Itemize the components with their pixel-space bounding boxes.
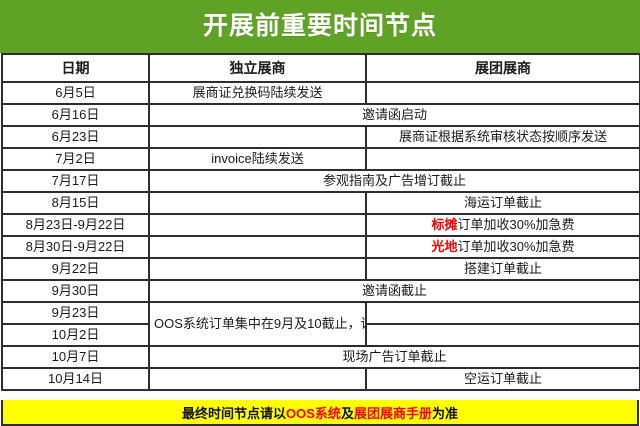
cell-solo xyxy=(149,258,366,280)
table-row: 8月30日-9月22日光地订单加收30%加急费 xyxy=(2,236,640,258)
cell-group xyxy=(366,148,640,170)
table-row: 6月5日展商证兑换码陆续发送 xyxy=(2,82,640,104)
cell-date: 8月30日-9月22日 xyxy=(2,236,149,258)
cell-solo: 展商证兑换码陆续发送 xyxy=(149,82,366,104)
table-header-row: 日期 独立展商 展团展商 xyxy=(2,54,640,82)
cell-solo xyxy=(149,192,366,214)
footer-highlight-oos: OOS系统 xyxy=(286,403,341,422)
cell-group: 搭建订单截止 xyxy=(366,258,640,280)
column-header-solo: 独立展商 xyxy=(149,54,366,82)
cell-group xyxy=(366,302,640,324)
cell-solo xyxy=(149,236,366,258)
cell-date: 7月17日 xyxy=(2,170,149,192)
cell-group xyxy=(366,82,640,104)
cell-solo xyxy=(149,214,366,236)
table-row: 6月23日展商证根据系统审核状态按顺序发送 xyxy=(2,126,640,148)
cell-solo xyxy=(149,126,366,148)
cell-date: 8月15日 xyxy=(2,192,149,214)
column-header-group: 展团展商 xyxy=(366,54,640,82)
cell-date: 6月5日 xyxy=(2,82,149,104)
cell-merged: 现场广告订单截止 xyxy=(149,346,640,368)
table-row: 8月15日海运订单截止 xyxy=(2,192,640,214)
cell-group xyxy=(366,324,640,346)
cell-solo xyxy=(149,368,366,390)
footer-highlight-manual: 展团展商手册 xyxy=(354,403,432,422)
cell-solo: OOS系统订单集中在9月及10截止，详情请参考OOS xyxy=(149,302,366,346)
cell-date: 10月7日 xyxy=(2,346,149,368)
cell-group: 光地订单加收30%加急费 xyxy=(366,236,640,258)
table-row: 9月30日邀请函截止 xyxy=(2,280,640,302)
column-header-date: 日期 xyxy=(2,54,149,82)
cell-merged: 邀请函截止 xyxy=(149,280,640,302)
cell-group: 海运订单截止 xyxy=(366,192,640,214)
table-row: 9月23日OOS系统订单集中在9月及10截止，详情请参考OOS xyxy=(2,302,640,324)
cell-group-highlight: 光地 xyxy=(431,239,457,254)
footer-text-part2: 及 xyxy=(341,403,354,422)
footer-text-part3: 为准 xyxy=(432,403,458,422)
footer-note: 最终时间节点请以OOS系统及展团展商手册为准 xyxy=(1,400,639,426)
table-row: 10月7日现场广告订单截止 xyxy=(2,346,640,368)
page-title: 开展前重要时间节点 xyxy=(203,14,437,39)
cell-group-highlight: 标摊 xyxy=(431,217,457,232)
table-row: 7月2日invoice陆续发送 xyxy=(2,148,640,170)
cell-group: 展商证根据系统审核状态按顺序发送 xyxy=(366,126,640,148)
infographic-root: 开展前重要时间节点 日期 独立展商 展团展商 6月5日展商证兑换码陆续发送6月1… xyxy=(0,0,640,426)
table-row: 8月23日-9月22日标摊订单加收30%加急费 xyxy=(2,214,640,236)
title-banner: 开展前重要时间节点 xyxy=(0,0,640,53)
schedule-table-wrap: 日期 独立展商 展团展商 6月5日展商证兑换码陆续发送6月16日邀请函启动6月2… xyxy=(0,53,640,400)
table-row: 7月17日参观指南及广告增订截止 xyxy=(2,170,640,192)
cell-merged: 参观指南及广告增订截止 xyxy=(149,170,640,192)
cell-date: 10月2日 xyxy=(2,324,149,346)
cell-date: 6月16日 xyxy=(2,104,149,126)
table-row: 9月22日搭建订单截止 xyxy=(2,258,640,280)
cell-date: 8月23日-9月22日 xyxy=(2,214,149,236)
cell-date: 6月23日 xyxy=(2,126,149,148)
cell-merged: 邀请函启动 xyxy=(149,104,640,126)
cell-date: 10月14日 xyxy=(2,368,149,390)
cell-date: 9月30日 xyxy=(2,280,149,302)
footer-text-part1: 最终时间节点请以 xyxy=(182,403,286,422)
table-header: 日期 独立展商 展团展商 xyxy=(2,54,640,82)
table-body: 6月5日展商证兑换码陆续发送6月16日邀请函启动6月23日展商证根据系统审核状态… xyxy=(2,82,640,390)
table-row: 10月14日空运订单截止 xyxy=(2,368,640,390)
cell-group: 空运订单截止 xyxy=(366,368,640,390)
cell-date: 7月2日 xyxy=(2,148,149,170)
schedule-table: 日期 独立展商 展团展商 6月5日展商证兑换码陆续发送6月16日邀请函启动6月2… xyxy=(1,53,640,391)
cell-solo: invoice陆续发送 xyxy=(149,148,366,170)
cell-group: 标摊订单加收30%加急费 xyxy=(366,214,640,236)
table-row: 6月16日邀请函启动 xyxy=(2,104,640,126)
cell-date: 9月23日 xyxy=(2,302,149,324)
cell-date: 9月22日 xyxy=(2,258,149,280)
